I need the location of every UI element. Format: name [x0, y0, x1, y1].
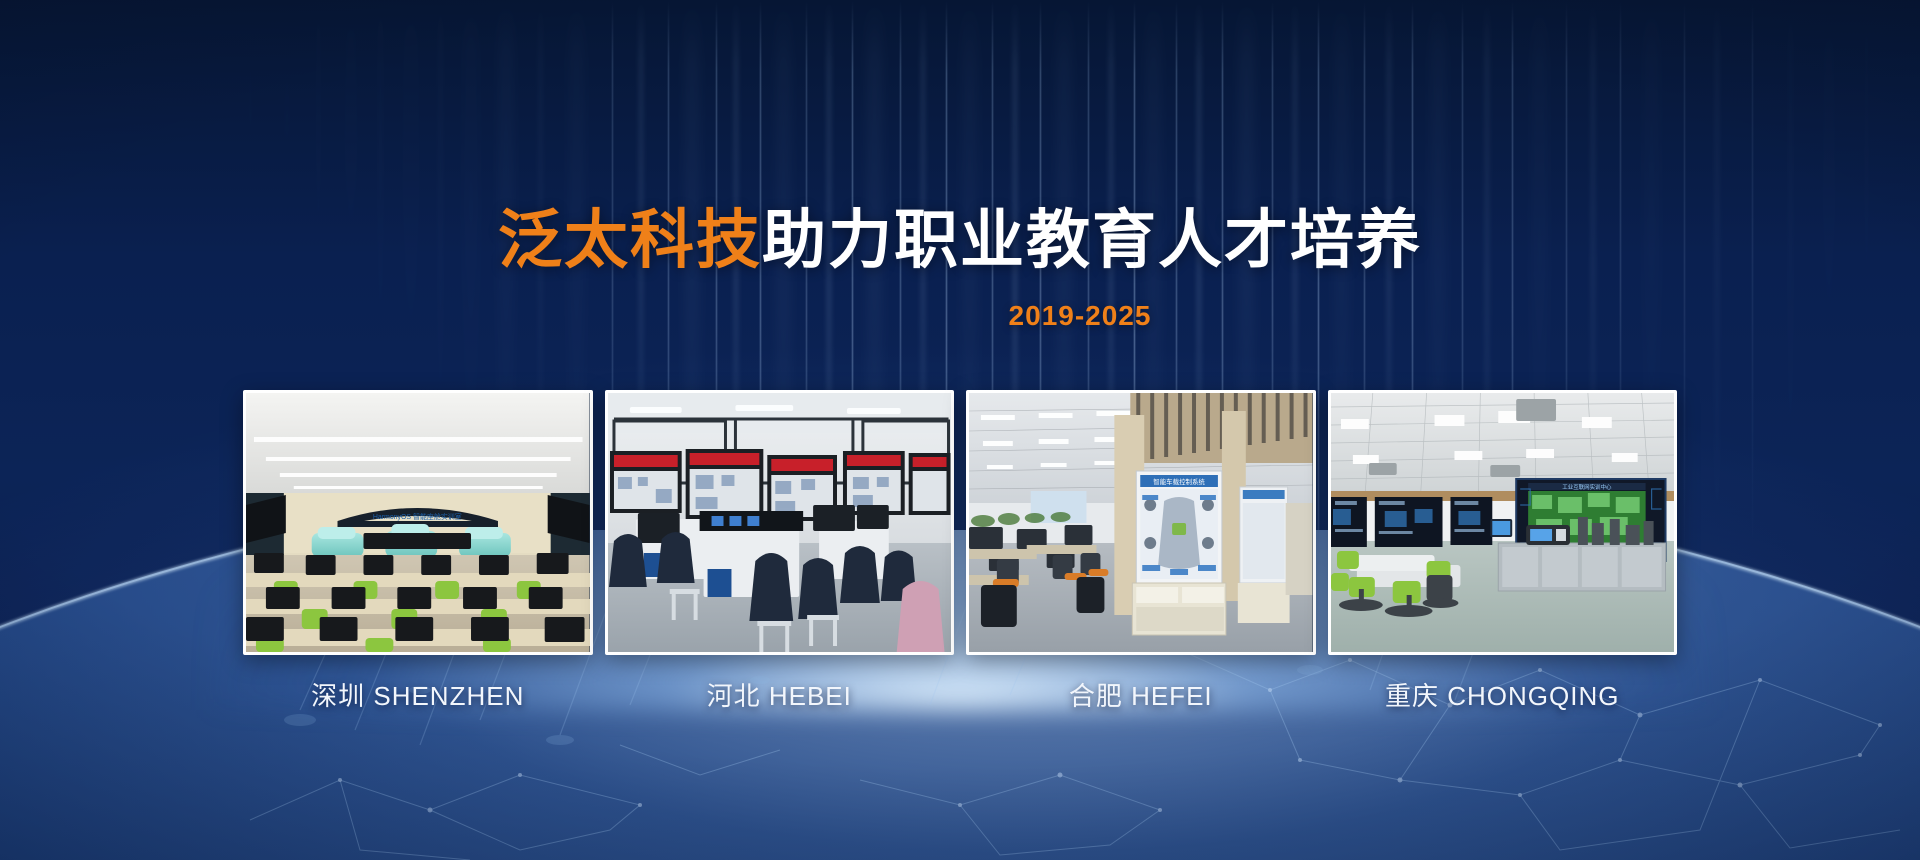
photo-frame: 工业互联网实训中心 — [1328, 390, 1678, 655]
photo-chongqing: 工业互联网实训中心 — [1331, 393, 1675, 652]
gallery-caption: 合肥 HEFEI — [966, 676, 1316, 713]
photo-shenzhen: HarmonyOS 智能座舱实训室 — [246, 393, 590, 652]
photo-frame — [605, 390, 955, 655]
page-title-brand: 泛太科技 — [498, 204, 762, 276]
light-ray — [214, 0, 216, 225]
svg-text:智能车载控制系统: 智能车载控制系统 — [1153, 477, 1205, 486]
year-range-label: 2019-2025 — [0, 300, 1920, 332]
photo-hebei — [608, 393, 952, 652]
svg-text:工业互联网实训中心: 工业互联网实训中心 — [1562, 483, 1612, 491]
photo-frame: HarmonyOS 智能座舱实训室 — [243, 390, 593, 655]
photo-hefei: 智能车载控制系统 — [969, 393, 1313, 652]
light-ray — [1684, 0, 1685, 580]
photo-frame: 智能车载控制系统 — [966, 390, 1316, 655]
gallery-caption: 重庆 CHONGQING — [1328, 676, 1678, 713]
gallery-caption: 深圳 SHENZHEN — [243, 676, 593, 713]
svg-text:HarmonyOS 智能座舱实训室: HarmonyOS 智能座舱实训室 — [373, 512, 462, 521]
gallery-item-hebei[interactable]: 河北 HEBEI — [605, 390, 955, 655]
gallery-item-shenzhen[interactable]: HarmonyOS 智能座舱实训室 — [243, 390, 593, 655]
photo-gallery: HarmonyOS 智能座舱实训室 — [243, 390, 1677, 655]
page-title: 泛太科技助力职业教育人才培养 — [0, 208, 1920, 272]
light-ray — [350, 0, 352, 340]
light-ray — [1752, 0, 1753, 555]
gallery-item-chongqing[interactable]: 工业互联网实训中心 — [1328, 390, 1678, 655]
banner-root: 泛太科技助力职业教育人才培养 2019-2025 — [0, 0, 1920, 860]
gallery-caption: 河北 HEBEI — [605, 676, 955, 713]
page-title-rest: 助力职业教育人才培养 — [762, 204, 1422, 276]
gallery-item-hefei[interactable]: 智能车载控制系统 — [966, 390, 1316, 655]
light-ray — [410, 0, 412, 405]
